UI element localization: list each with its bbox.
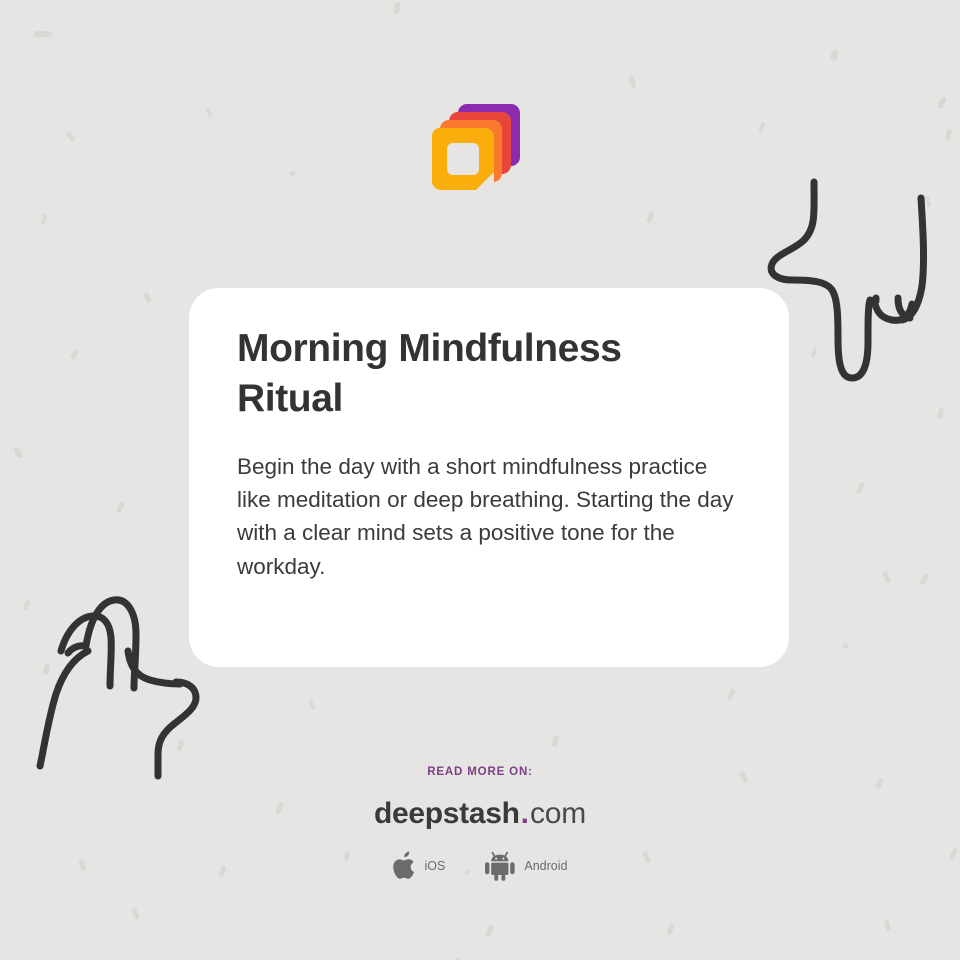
confetti-speck [41,214,48,225]
android-icon [483,851,517,881]
brand-name: deepstash [374,797,520,830]
confetti-speck [308,700,316,711]
confetti-speck [937,408,945,420]
confetti-speck [646,211,655,224]
confetti-speck [143,291,152,303]
confetti-speck [945,129,952,142]
card-body-text: Begin the day with a short mindfulness p… [237,450,741,583]
confetti-speck [727,688,737,701]
confetti-speck [290,171,295,176]
brand-tld: com [530,797,586,830]
confetti-speck [205,108,212,118]
apple-icon [393,851,418,881]
store-badge-ios[interactable]: iOS [393,851,446,881]
confetti-speck [666,923,674,935]
brand-dot: . [520,797,530,830]
content-card: Morning Mindfulness Ritual Begin the day… [189,288,789,667]
store-label-ios: iOS [425,859,446,873]
read-more-label: READ MORE ON: [0,766,960,778]
confetti-speck [919,573,929,586]
card-title: Morning Mindfulness Ritual [237,324,667,424]
store-badges: iOS Android [0,851,960,881]
confetti-speck [628,76,637,89]
confetti-speck [758,122,766,133]
confetti-speck [830,49,840,61]
confetti-speck [884,919,892,932]
confetti-speck [393,1,402,14]
confetti-speck [843,644,848,649]
poster-canvas: Morning Mindfulness Ritual Begin the day… [0,0,960,960]
confetti-speck [485,925,495,938]
confetti-speck [65,131,75,143]
deepstash-logo [424,98,528,202]
confetti-speck [116,501,125,513]
store-badge-android[interactable]: Android [483,851,567,881]
confetti-speck [552,735,560,748]
confetti-speck [937,96,948,109]
confetti-speck [34,31,52,37]
confetti-speck [70,348,80,360]
confetti-speck [13,446,24,459]
confetti-speck [131,907,139,919]
brand-wordmark[interactable]: deepstash.com [0,799,960,829]
footer: READ MORE ON: deepstash.com iOS [0,766,960,881]
confetti-speck [856,482,865,495]
store-label-android: Android [524,859,567,873]
confetti-speck [882,571,892,584]
